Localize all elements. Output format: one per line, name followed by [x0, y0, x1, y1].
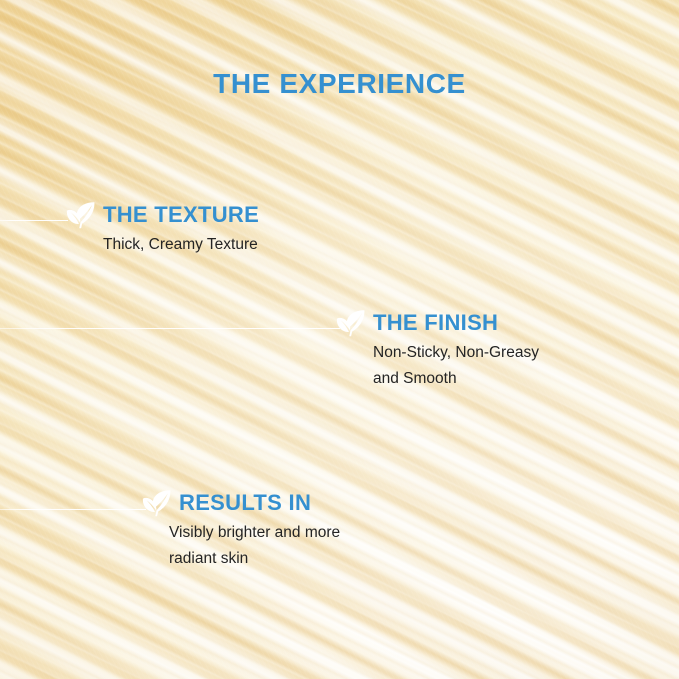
connector-line-texture [0, 220, 68, 221]
leaf-icon [66, 201, 96, 229]
leaf-icon [336, 309, 366, 337]
feature-title-texture: THE TEXTURE [103, 202, 259, 228]
product-experience-infographic: THE EXPERIENCE THE TEXTURE Thick, Creamy… [0, 0, 679, 679]
feature-title-results: RESULTS IN [179, 490, 311, 516]
leaf-icon [142, 489, 172, 517]
page-title: THE EXPERIENCE [0, 68, 679, 100]
feature-header-texture: THE TEXTURE [66, 201, 259, 229]
feature-block-texture: THE TEXTURE Thick, Creamy Texture [66, 201, 259, 258]
connector-line-finish [0, 328, 340, 329]
feature-header-results: RESULTS IN [142, 489, 340, 517]
content-layer: THE EXPERIENCE THE TEXTURE Thick, Creamy… [0, 0, 679, 679]
connector-line-results [0, 509, 146, 510]
feature-body-texture: Thick, Creamy Texture [103, 232, 259, 258]
feature-body-results: Visibly brighter and more radiant skin [169, 520, 340, 572]
feature-title-finish: THE FINISH [373, 310, 498, 336]
feature-body-finish: Non-Sticky, Non-Greasy and Smooth [373, 340, 539, 392]
feature-block-finish: THE FINISH Non-Sticky, Non-Greasy and Sm… [336, 309, 539, 392]
feature-header-finish: THE FINISH [336, 309, 539, 337]
feature-block-results: RESULTS IN Visibly brighter and more rad… [142, 489, 340, 572]
